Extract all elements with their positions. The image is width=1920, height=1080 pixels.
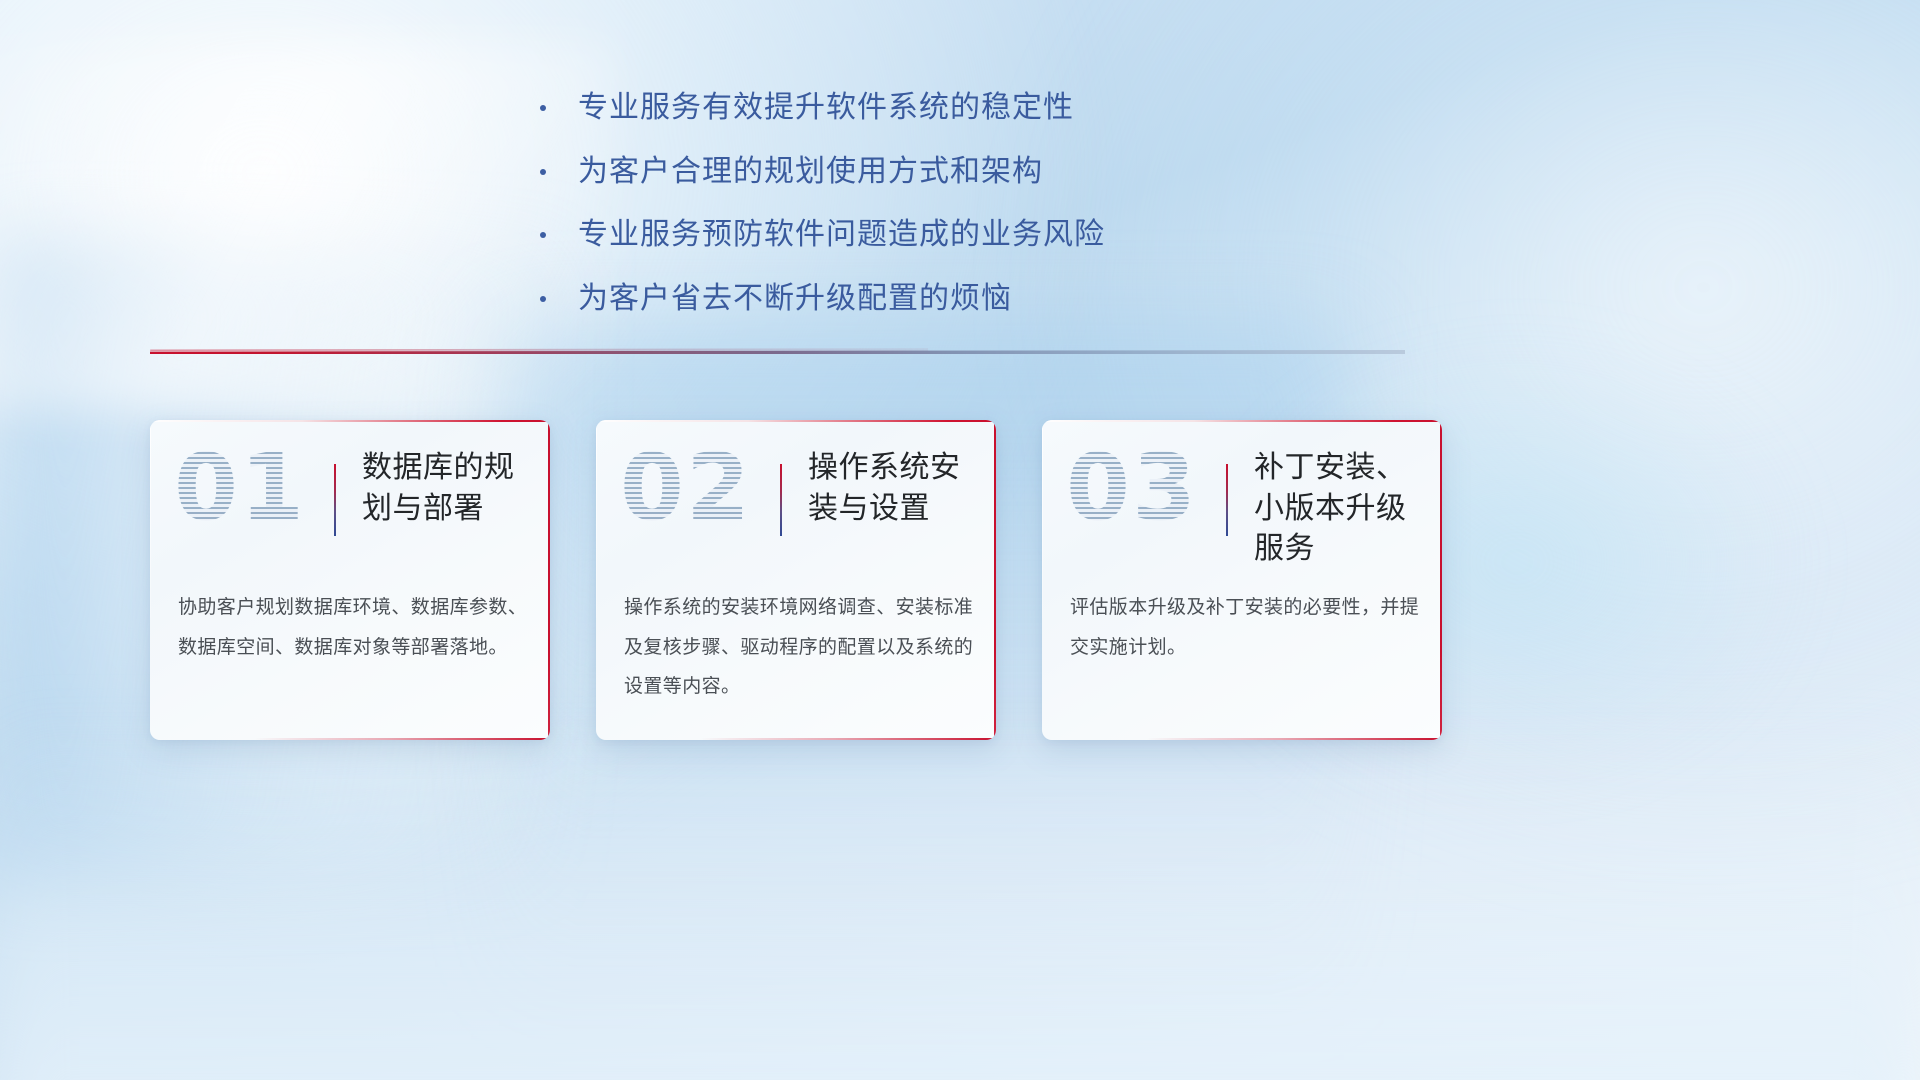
card-number: 02 [620, 442, 752, 534]
section-divider [150, 344, 1405, 364]
card-divider-bar [334, 464, 336, 536]
card-description: 协助客户规划数据库环境、数据库参数、数据库空间、数据库对象等部署落地。 [178, 588, 528, 667]
benefits-bullet-list: 专业服务有效提升软件系统的稳定性 为客户合理的规划使用方式和架构 专业服务预防软… [540, 86, 1440, 340]
bullet-text: 专业服务有效提升软件系统的稳定性 [578, 86, 1074, 130]
bullet-dot-icon [540, 169, 546, 175]
bullet-text: 为客户合理的规划使用方式和架构 [578, 150, 1043, 194]
bullet-dot-icon [540, 105, 546, 111]
card-description: 评估版本升级及补丁安装的必要性，并提交实施计划。 [1070, 588, 1420, 667]
card-header: 02 02 操作系统安装与设置 [596, 420, 996, 570]
card-number: 03 [1066, 442, 1198, 534]
card-title: 数据库的规划与部署 [362, 448, 538, 529]
card-divider-bar [1226, 464, 1228, 536]
background-tint-bottom [0, 713, 1920, 1080]
card-bottom-accent [700, 738, 996, 740]
bullet-text: 专业服务预防软件问题造成的业务风险 [578, 213, 1105, 257]
bullet-dot-icon [540, 296, 546, 302]
card-header: 03 03 补丁安装、小版本升级服务 [1042, 420, 1442, 570]
bullet-dot-icon [540, 232, 546, 238]
card-bottom-accent [254, 738, 550, 740]
service-card-03[interactable]: 03 03 补丁安装、小版本升级服务 评估版本升级及补丁安装的必要性，并提交实施… [1042, 420, 1442, 740]
list-item: 为客户省去不断升级配置的烦恼 [540, 277, 1440, 321]
card-bottom-accent [1146, 738, 1442, 740]
service-card-01[interactable]: 01 01 数据库的规划与部署 协助客户规划数据库环境、数据库参数、数据库空间、… [150, 420, 550, 740]
card-header: 01 01 数据库的规划与部署 [150, 420, 550, 570]
card-title: 操作系统安装与设置 [808, 448, 984, 529]
card-number: 01 [174, 442, 306, 534]
service-card-02[interactable]: 02 02 操作系统安装与设置 操作系统的安装环境网络调查、安装标准及复核步骤、… [596, 420, 996, 740]
list-item: 专业服务有效提升软件系统的稳定性 [540, 86, 1440, 130]
card-title: 补丁安装、小版本升级服务 [1254, 448, 1430, 570]
card-description: 操作系统的安装环境网络调查、安装标准及复核步骤、驱动程序的配置以及系统的设置等内… [624, 588, 974, 707]
list-item: 为客户合理的规划使用方式和架构 [540, 150, 1440, 194]
bullet-text: 为客户省去不断升级配置的烦恼 [578, 277, 1012, 321]
service-card-list: 01 01 数据库的规划与部署 协助客户规划数据库环境、数据库参数、数据库空间、… [150, 420, 1442, 740]
card-divider-bar [780, 464, 782, 536]
list-item: 专业服务预防软件问题造成的业务风险 [540, 213, 1440, 257]
